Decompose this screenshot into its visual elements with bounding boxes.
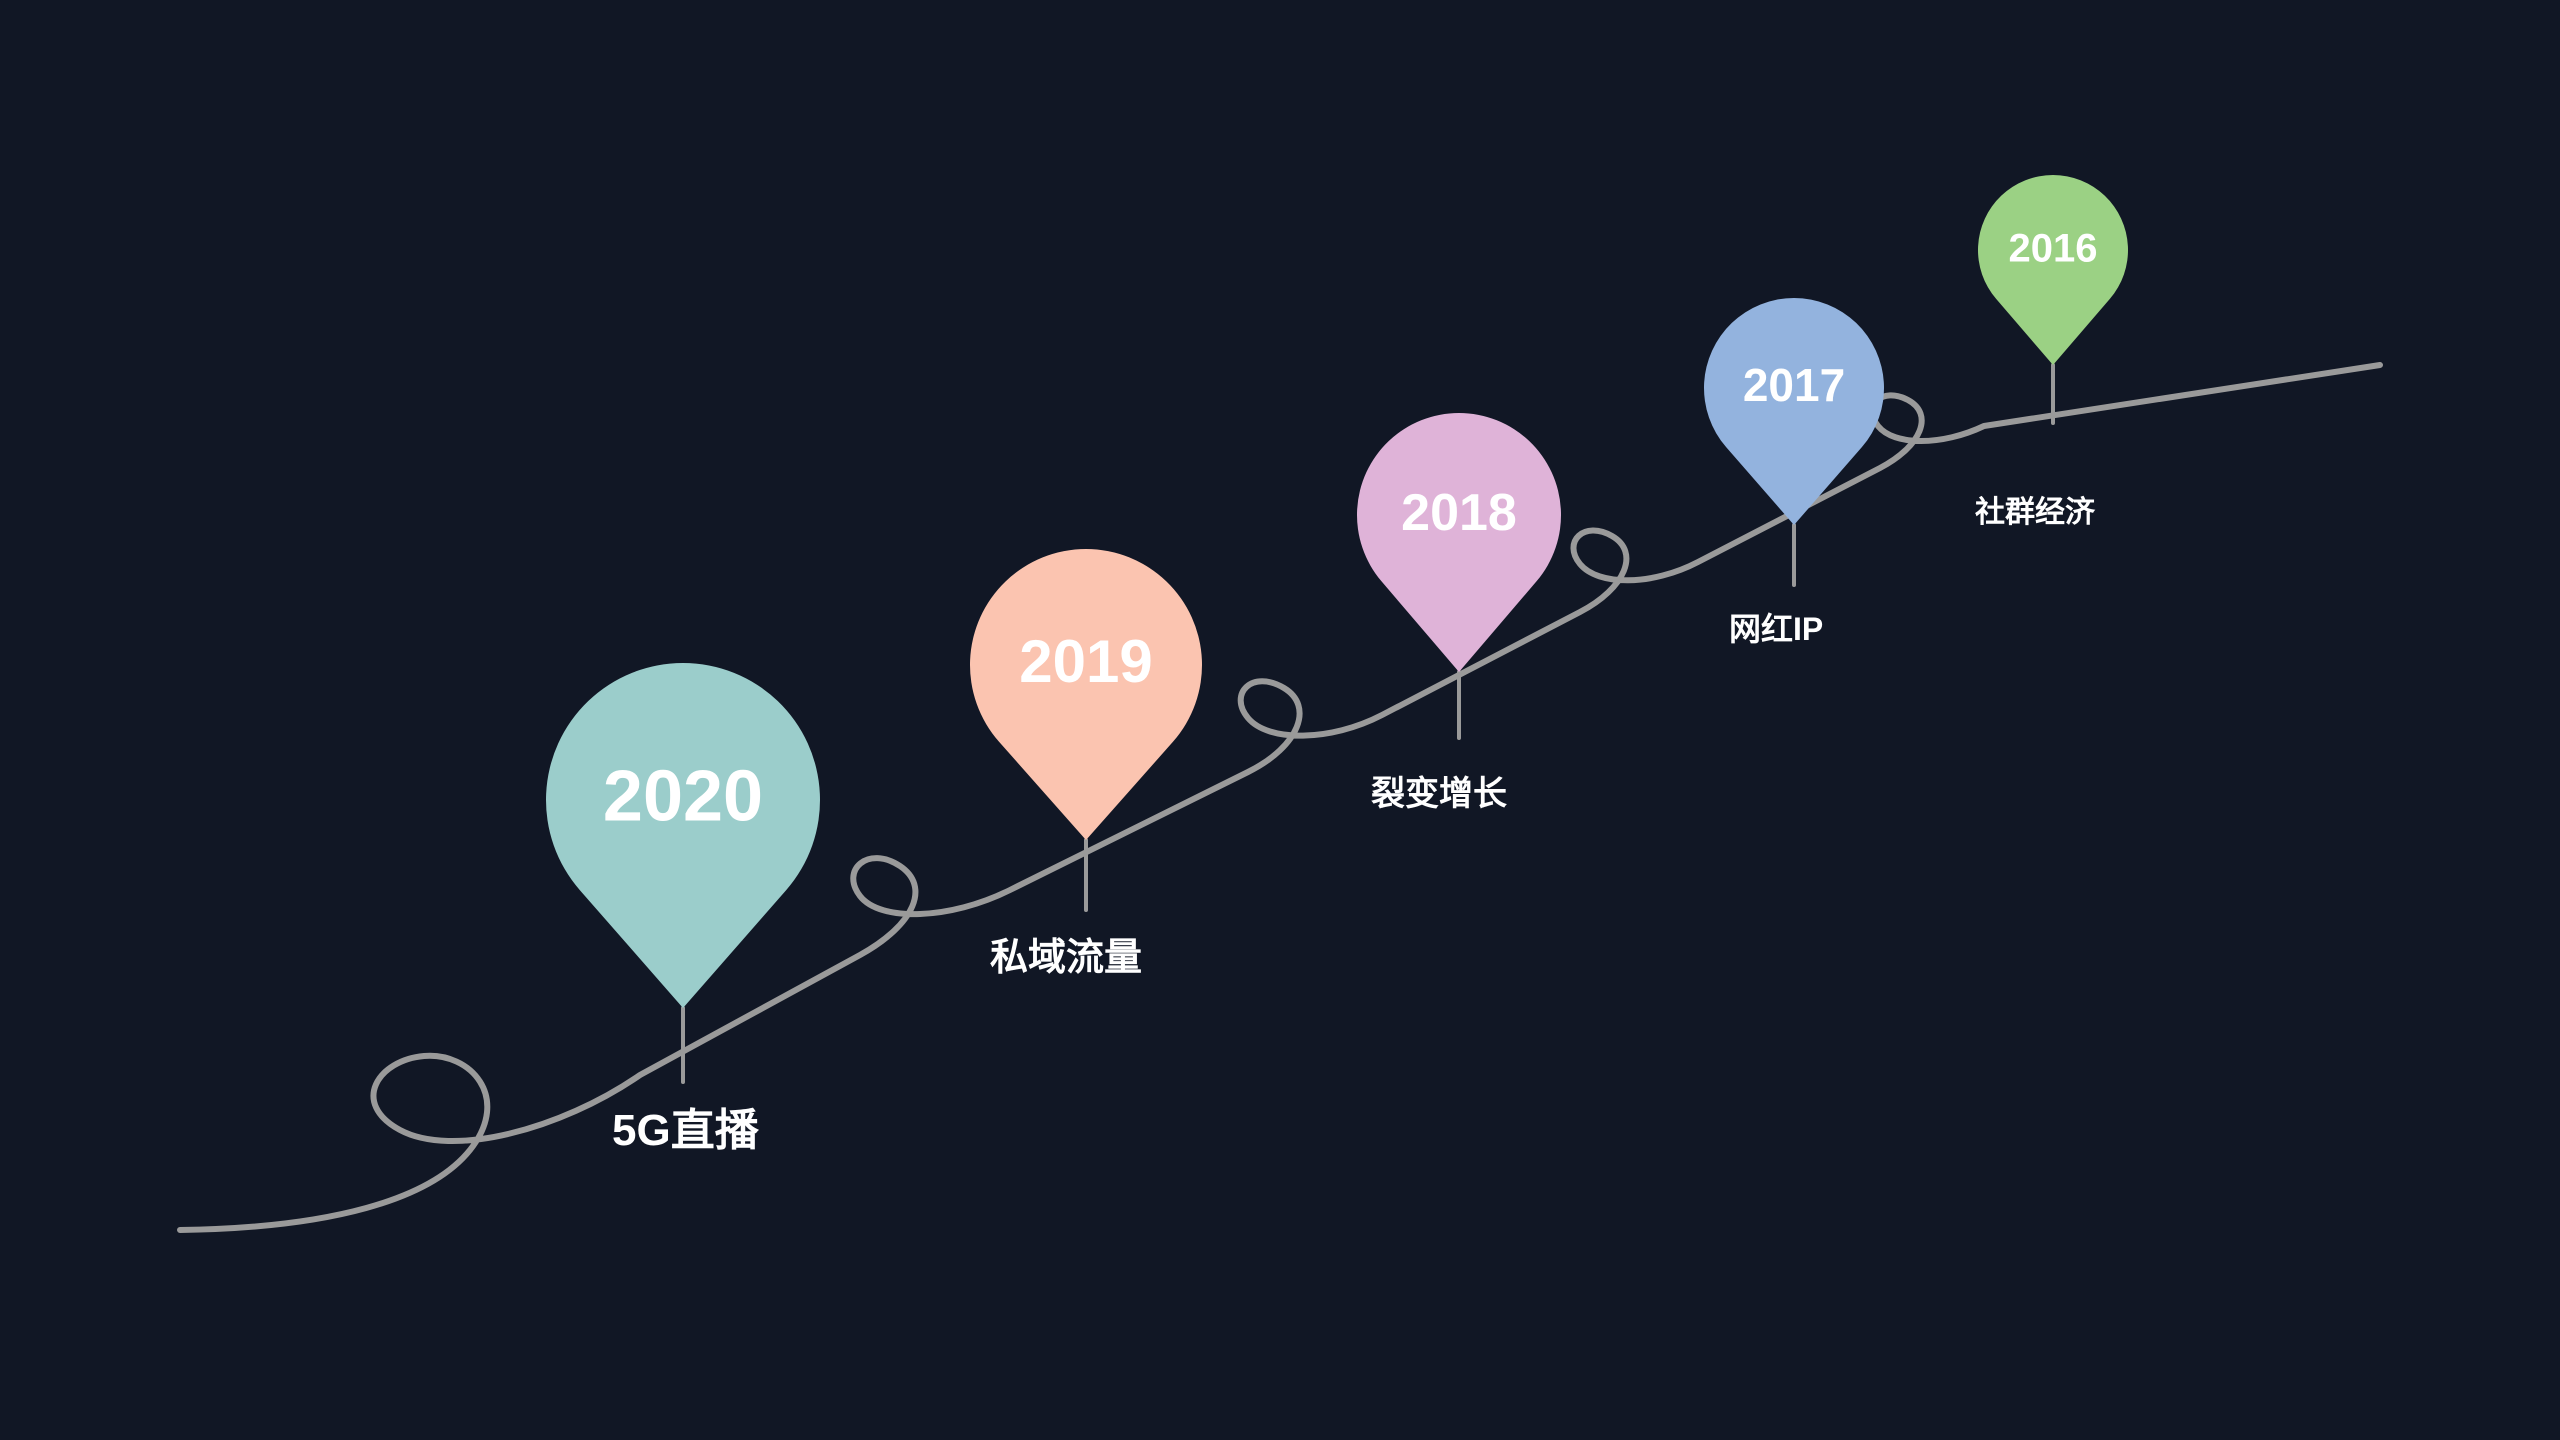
milestone-year-label: 2019	[1019, 628, 1152, 695]
milestone-year-label: 2020	[603, 756, 763, 836]
map-pin-icon[interactable]	[1357, 413, 1561, 672]
infographic-canvas: 20205G直播2019私域流量2018裂变增长2017网红IP2016社群经济	[0, 0, 2560, 1440]
map-pin-icon[interactable]	[1704, 298, 1884, 525]
milestone-year-label: 2018	[1401, 484, 1517, 542]
milestone-caption-label: 5G直播	[612, 1106, 760, 1155]
milestone-caption-label: 裂变增长	[1371, 775, 1507, 813]
milestone-2020[interactable]: 20205G直播	[546, 663, 820, 1155]
milestone-2016[interactable]: 2016社群经济	[1975, 175, 2128, 529]
milestone-caption-label: 社群经济	[1975, 495, 2096, 529]
milestone-year-label: 2016	[2009, 226, 2098, 270]
milestone-2017[interactable]: 2017网红IP	[1704, 298, 1884, 647]
milestone-year-label: 2017	[1743, 359, 1845, 411]
milestone-caption-label: 私域流量	[990, 937, 1142, 979]
milestone-2018[interactable]: 2018裂变增长	[1357, 413, 1561, 813]
milestone-caption-label: 网红IP	[1729, 611, 1823, 647]
milestone-layer: 20205G直播2019私域流量2018裂变增长2017网红IP2016社群经济	[0, 0, 2560, 1440]
milestone-2019[interactable]: 2019私域流量	[970, 549, 1202, 979]
milestones-group: 20205G直播2019私域流量2018裂变增长2017网红IP2016社群经济	[546, 175, 2128, 1155]
